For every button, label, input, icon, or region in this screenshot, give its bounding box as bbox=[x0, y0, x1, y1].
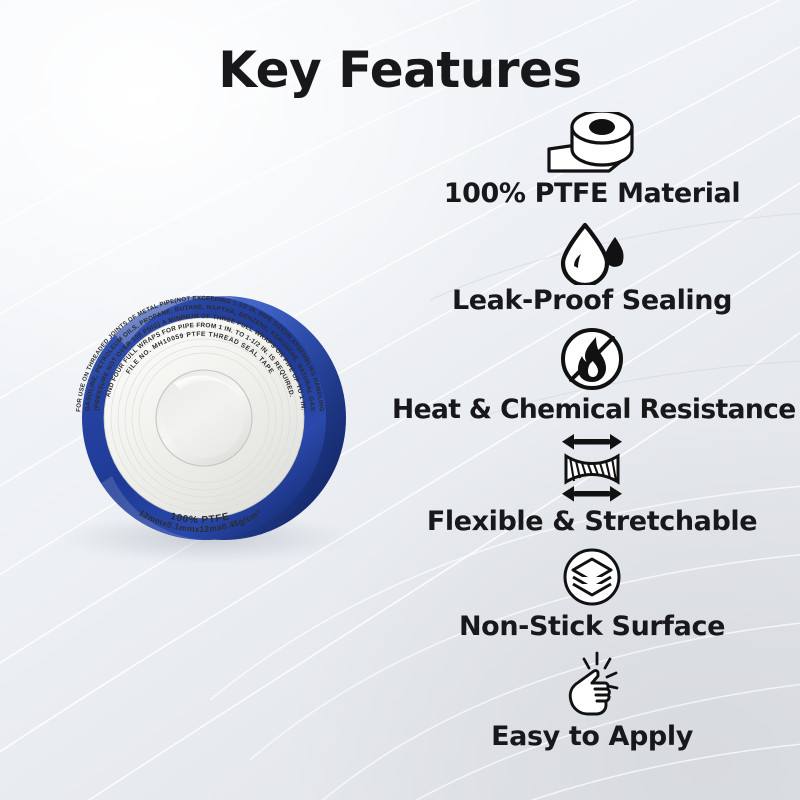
feature-item-ptfe-material: 100% PTFE Material bbox=[392, 112, 792, 210]
feature-item-non-stick: Non-Stick Surface bbox=[392, 538, 792, 643]
tape-roll-icon bbox=[392, 112, 792, 178]
feature-label-easy-apply: Easy to Apply bbox=[392, 721, 792, 753]
feature-item-flexible: Flexible & Stretchable bbox=[392, 426, 792, 538]
layers-circle-icon bbox=[392, 545, 792, 611]
page-title: Key Features bbox=[0, 41, 800, 99]
arrow-bottom bbox=[562, 486, 622, 502]
feature-label-heat-chemical: Heat & Chemical Resistance bbox=[392, 394, 792, 426]
feature-label-ptfe-material: 100% PTFE Material bbox=[392, 178, 792, 210]
water-droplet-icon bbox=[392, 219, 792, 285]
feature-label-flexible: Flexible & Stretchable bbox=[392, 506, 792, 538]
feature-item-heat-chemical: Heat & Chemical Resistance bbox=[392, 317, 792, 426]
feature-list: 100% PTFE Material Leak-Proof Sealing bbox=[392, 112, 792, 753]
no-flame-icon bbox=[392, 324, 792, 394]
feature-item-leak-proof: Leak-Proof Sealing bbox=[392, 210, 792, 317]
feature-label-non-stick: Non-Stick Surface bbox=[392, 611, 792, 643]
stretch-band bbox=[566, 456, 618, 482]
stretch-arrows-icon bbox=[392, 432, 792, 506]
tape-roll-hole bbox=[589, 119, 615, 135]
product-image: FOR USE ON THREADED JOINTS OF METAL PIPE… bbox=[28, 238, 388, 568]
tap-hand-icon bbox=[392, 649, 792, 721]
key-features-infographic: Key Features bbox=[0, 0, 800, 800]
feature-item-easy-apply: Easy to Apply bbox=[392, 643, 792, 753]
feature-label-leak-proof: Leak-Proof Sealing bbox=[392, 285, 792, 317]
hand-glyph bbox=[570, 671, 609, 714]
arrow-top bbox=[562, 434, 622, 450]
